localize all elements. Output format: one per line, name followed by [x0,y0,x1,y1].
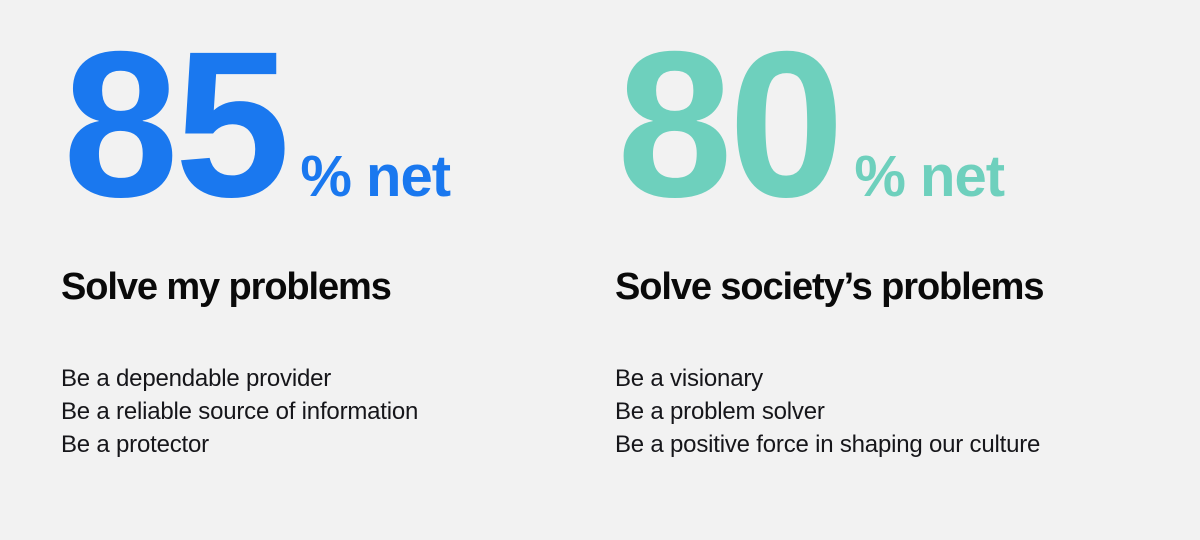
list-item: Be a reliable source of information [61,395,418,428]
stat-suffix-2: % net [854,148,1004,206]
list-item: Be a visionary [615,362,1040,395]
column-heading-1: Solve my problems [61,266,391,308]
stats-columns: 85 % net Solve my problems Be a dependab… [0,0,1200,540]
stats-board: 85 % net Solve my problems Be a dependab… [0,0,1200,540]
stat-column-solve-societys-problems: 80 % net Solve society’s problems Be a v… [585,0,1170,540]
list-item: Be a dependable provider [61,362,418,395]
stat-headline-1: 85 % net [63,38,450,213]
list-item: Be a positive force in shaping our cultu… [615,428,1040,461]
column-list-1: Be a dependable provider Be a reliable s… [61,362,418,461]
column-list-2: Be a visionary Be a problem solver Be a … [615,362,1040,461]
stat-number-1: 85 [63,38,286,213]
list-item: Be a protector [61,428,418,461]
stat-suffix-1: % net [300,148,450,206]
stat-number-2: 80 [617,38,840,213]
stat-headline-2: 80 % net [617,38,1004,213]
stat-column-solve-my-problems: 85 % net Solve my problems Be a dependab… [0,0,585,540]
column-heading-2: Solve society’s problems [615,266,1043,308]
list-item: Be a problem solver [615,395,1040,428]
